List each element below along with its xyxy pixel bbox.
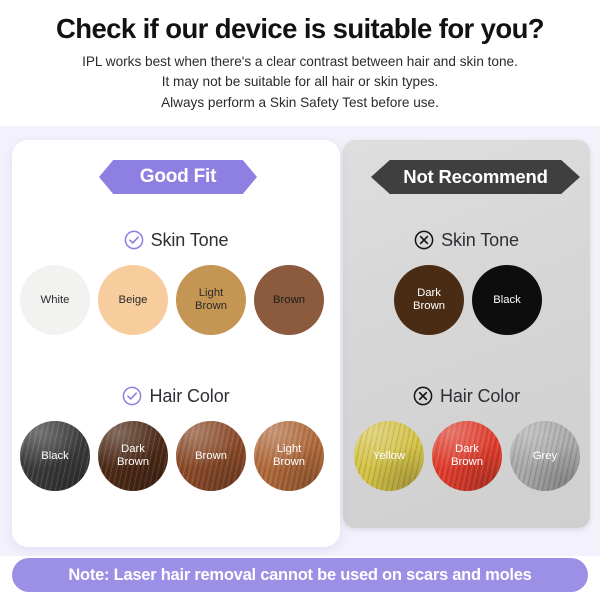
hair-swatch-red-dark-brown: DarkBrown: [432, 421, 502, 491]
check-circle-icon: [124, 230, 144, 250]
subtitle-line-2: It may not be suitable for all hair or s…: [10, 72, 590, 93]
bad-skin-tone-swatch-row: DarkBrown Black: [394, 265, 542, 335]
subtitle-line-3: Always perform a Skin Safety Test before…: [10, 93, 590, 114]
swatch-label: Grey: [533, 450, 557, 463]
swatch-white: White: [20, 265, 90, 335]
good-skin-tone-swatch-row: White Beige LightBrown Brown: [20, 265, 324, 335]
good-hair-color-label: Hair Color: [149, 386, 229, 407]
header: Check if our device is suitable for you?…: [0, 0, 600, 114]
bad-skin-tone-heading: Skin Tone: [343, 228, 590, 252]
footer-note: Note: Laser hair removal cannot be used …: [12, 558, 588, 592]
infographic-page: Check if our device is suitable for you?…: [0, 0, 600, 600]
page-title: Check if our device is suitable for you?: [10, 14, 590, 45]
swatch-label: DarkBrown: [451, 443, 483, 469]
hair-swatch-dark-brown: DarkBrown: [98, 421, 168, 491]
swatch-label: Brown: [273, 294, 305, 307]
not-recommend-banner: Not Recommend: [371, 160, 580, 194]
good-fit-banner: Good Fit: [99, 160, 257, 194]
hair-swatch-light-brown: LightBrown: [254, 421, 324, 491]
x-circle-icon: [414, 230, 434, 250]
swatch-dark-brown: DarkBrown: [394, 265, 464, 335]
swatch-label: White: [41, 294, 70, 307]
subtitle-line-1: IPL works best when there's a clear cont…: [10, 52, 590, 73]
swatch-black: Black: [472, 265, 542, 335]
swatch-label: DarkBrown: [413, 287, 445, 313]
swatch-label: Beige: [119, 294, 148, 307]
hair-swatch-grey: Grey: [510, 421, 580, 491]
good-hair-color-heading: Hair Color: [0, 384, 352, 408]
swatch-label: DarkBrown: [117, 443, 149, 469]
swatch-label: Black: [41, 450, 69, 463]
bad-skin-tone-label: Skin Tone: [441, 230, 519, 251]
swatch-label: LightBrown: [195, 287, 227, 313]
swatch-label: Black: [493, 294, 521, 307]
hair-swatch-black: Black: [20, 421, 90, 491]
bad-hair-color-heading: Hair Color: [343, 384, 590, 408]
hair-swatch-brown: Brown: [176, 421, 246, 491]
hair-swatch-yellow: Yellow: [354, 421, 424, 491]
swatch-brown: Brown: [254, 265, 324, 335]
good-skin-tone-label: Skin Tone: [151, 230, 229, 251]
swatch-label: LightBrown: [273, 443, 305, 469]
good-hair-color-swatch-row: Black DarkBrown Brown LightBrown: [20, 421, 324, 491]
good-skin-tone-heading: Skin Tone: [0, 228, 352, 252]
bad-hair-color-swatch-row: Yellow DarkBrown Grey: [354, 421, 580, 491]
swatch-light-brown: LightBrown: [176, 265, 246, 335]
comparison-stage: Good Fit Not Recommend Skin Tone White B…: [0, 126, 600, 556]
swatch-label: Brown: [195, 450, 227, 463]
bad-hair-color-label: Hair Color: [440, 386, 520, 407]
x-circle-icon: [413, 386, 433, 406]
page-subtitle: IPL works best when there's a clear cont…: [10, 52, 590, 114]
check-circle-icon: [122, 386, 142, 406]
swatch-label: Yellow: [373, 450, 405, 463]
swatch-beige: Beige: [98, 265, 168, 335]
